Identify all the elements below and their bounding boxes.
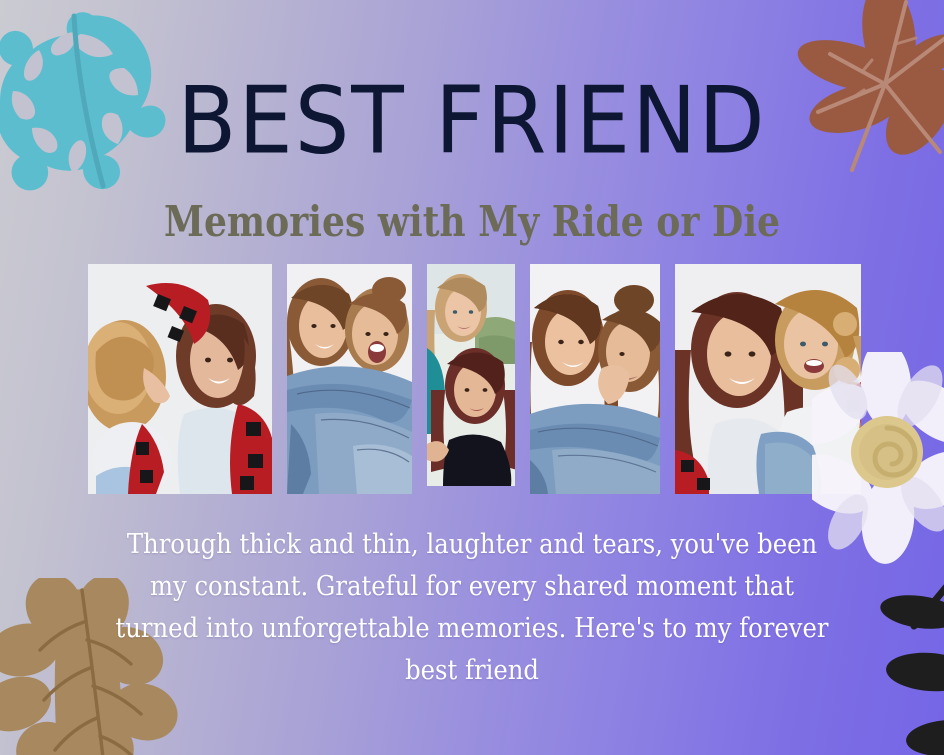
photo-item xyxy=(427,264,515,486)
page-title: BEST FRIEND xyxy=(0,75,944,168)
photo-item xyxy=(88,264,272,494)
photo-strip xyxy=(88,264,860,494)
photo-item xyxy=(675,264,861,494)
photo-item xyxy=(287,264,412,494)
page-subtitle: Memories with My Ride or Die xyxy=(66,199,878,245)
poster-canvas: BEST FRIEND Memories with My Ride or Die xyxy=(0,0,944,755)
subtitle-container: Memories with My Ride or Die xyxy=(0,199,944,245)
body-text-container: Through thick and thin, laughter and tea… xyxy=(72,524,872,691)
body-paragraph: Through thick and thin, laughter and tea… xyxy=(112,524,832,691)
title-container: BEST FRIEND xyxy=(0,78,944,164)
photo-item xyxy=(530,264,660,494)
